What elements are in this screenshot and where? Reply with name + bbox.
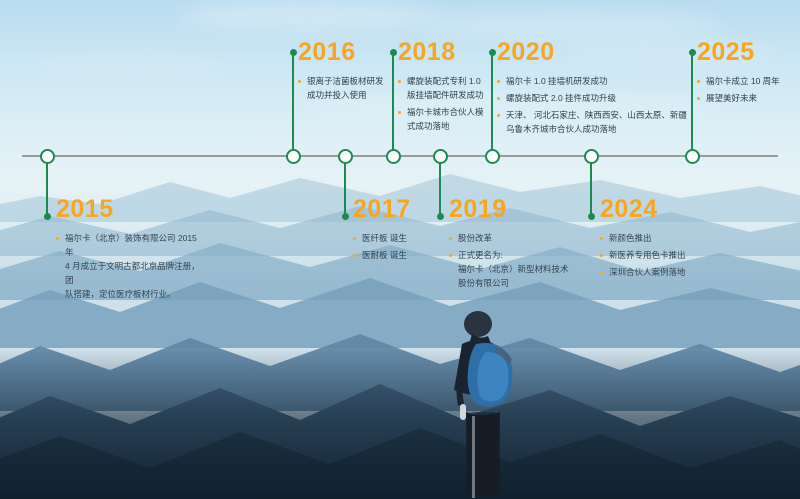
event-bullet: 福尔卡城市合伙人模 式成功落地 bbox=[398, 105, 494, 133]
foreground-shadow bbox=[0, 349, 800, 499]
event-year-2020: 2020 bbox=[497, 40, 687, 65]
event-bullet: 天津、 河北石家庄、陕西西安、山西太原、新疆 乌鲁木齐城市合伙人成功落地 bbox=[497, 108, 687, 136]
timeline-event-2020[interactable]: 2020 福尔卡 1.0 挂墙机研发成功 螺旋装配式 2.0 挂件成功升级 天津… bbox=[497, 40, 687, 139]
timeline-event-2018[interactable]: 2018 螺旋装配式专利 1.0 版挂墙配件研发成功 福尔卡城市合伙人模 式成功… bbox=[398, 40, 494, 136]
event-bullet: 展望美好未来 bbox=[697, 91, 793, 105]
event-bullet: 股份改革 bbox=[449, 231, 575, 245]
connector-cap-2016 bbox=[290, 49, 297, 56]
timeline-event-2016[interactable]: 2016 银离子洁菌板材研发 成功并投入使用 bbox=[298, 40, 392, 105]
event-year-2024: 2024 bbox=[600, 197, 730, 222]
event-bullet: 医耐板 诞生 bbox=[353, 248, 439, 262]
cloud bbox=[180, 2, 440, 28]
event-bullet: 新医养专用色卡推出 bbox=[600, 248, 730, 262]
connector-stem-2025 bbox=[691, 52, 693, 156]
connector-stem-2019 bbox=[439, 155, 441, 217]
timeline-node-2018[interactable] bbox=[386, 149, 401, 164]
cloud bbox=[420, 14, 720, 36]
event-bullets-2019: 股份改革 正式更名为: 福尔卡（北京）新型材料技术 股份有限公司 bbox=[449, 231, 575, 290]
connector-stem-2015 bbox=[46, 155, 48, 217]
event-year-2018: 2018 bbox=[398, 40, 494, 65]
event-bullets-2024: 新颜色推出 新医养专用色卡推出 深圳合伙人案例落地 bbox=[600, 231, 730, 279]
timeline-infographic: 2016 银离子洁菌板材研发 成功并投入使用 2018 螺旋装配式专利 1.0 … bbox=[0, 0, 800, 499]
event-year-2016: 2016 bbox=[298, 40, 392, 65]
timeline-event-2017[interactable]: 2017 医纤板 诞生 医耐板 诞生 bbox=[353, 197, 439, 265]
connector-cap-2024 bbox=[588, 213, 595, 220]
timeline-node-2015[interactable] bbox=[40, 149, 55, 164]
event-bullet: 福尔卡 1.0 挂墙机研发成功 bbox=[497, 74, 687, 88]
connector-cap-2015 bbox=[44, 213, 51, 220]
timeline-event-2024[interactable]: 2024 新颜色推出 新医养专用色卡推出 深圳合伙人案例落地 bbox=[600, 197, 730, 282]
event-bullet: 新颜色推出 bbox=[600, 231, 730, 245]
event-bullets-2020: 福尔卡 1.0 挂墙机研发成功 螺旋装配式 2.0 挂件成功升级 天津、 河北石… bbox=[497, 74, 687, 136]
connector-stem-2024 bbox=[590, 155, 592, 217]
event-bullet: 正式更名为: 福尔卡（北京）新型材料技术 股份有限公司 bbox=[449, 248, 575, 290]
event-year-2019: 2019 bbox=[449, 197, 575, 222]
connector-cap-2025 bbox=[689, 49, 696, 56]
event-bullet: 螺旋装配式 2.0 挂件成功升级 bbox=[497, 91, 687, 105]
event-year-2017: 2017 bbox=[353, 197, 439, 222]
timeline-node-2016[interactable] bbox=[286, 149, 301, 164]
event-bullet: 福尔卡成立 10 周年 bbox=[697, 74, 793, 88]
event-bullet: 银离子洁菌板材研发 成功并投入使用 bbox=[298, 74, 392, 102]
timeline-event-2025[interactable]: 2025 福尔卡成立 10 周年 展望美好未来 bbox=[697, 40, 793, 108]
event-year-2015: 2015 bbox=[56, 197, 206, 222]
timeline-node-2017[interactable] bbox=[338, 149, 353, 164]
connector-cap-2017 bbox=[342, 213, 349, 220]
connector-stem-2017 bbox=[344, 155, 346, 217]
hiker-figure bbox=[432, 308, 552, 499]
timeline-node-2019[interactable] bbox=[433, 149, 448, 164]
event-bullets-2016: 银离子洁菌板材研发 成功并投入使用 bbox=[298, 74, 392, 102]
event-bullet: 福尔卡（北京）装饰有限公司 2015 年 4 月成立于文明古都北京品牌注册，团 … bbox=[56, 231, 206, 301]
event-bullets-2018: 螺旋装配式专利 1.0 版挂墙配件研发成功 福尔卡城市合伙人模 式成功落地 bbox=[398, 74, 494, 133]
timeline-event-2015[interactable]: 2015 福尔卡（北京）装饰有限公司 2015 年 4 月成立于文明古都北京品牌… bbox=[56, 197, 206, 304]
event-bullet: 螺旋装配式专利 1.0 版挂墙配件研发成功 bbox=[398, 74, 494, 102]
cloud bbox=[30, 58, 230, 74]
timeline-node-2024[interactable] bbox=[584, 149, 599, 164]
connector-stem-2016 bbox=[292, 52, 294, 156]
event-year-2025: 2025 bbox=[697, 40, 793, 65]
timeline-event-2019[interactable]: 2019 股份改革 正式更名为: 福尔卡（北京）新型材料技术 股份有限公司 bbox=[449, 197, 575, 293]
event-bullet: 医纤板 诞生 bbox=[353, 231, 439, 245]
event-bullets-2015: 福尔卡（北京）装饰有限公司 2015 年 4 月成立于文明古都北京品牌注册，团 … bbox=[56, 231, 206, 301]
event-bullets-2017: 医纤板 诞生 医耐板 诞生 bbox=[353, 231, 439, 262]
timeline-node-2025[interactable] bbox=[685, 149, 700, 164]
timeline-node-2020[interactable] bbox=[485, 149, 500, 164]
event-bullet: 深圳合伙人案例落地 bbox=[600, 265, 730, 279]
connector-stem-2018 bbox=[392, 52, 394, 156]
event-bullets-2025: 福尔卡成立 10 周年 展望美好未来 bbox=[697, 74, 793, 105]
